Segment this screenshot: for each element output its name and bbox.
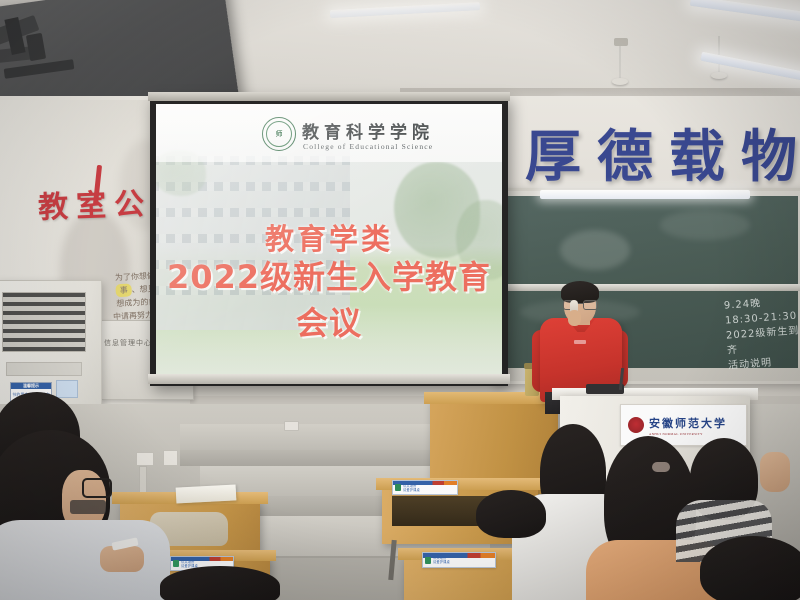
notebook: [176, 484, 237, 503]
university-name-en: ANHUI NORMAL UNIVERSITY: [649, 432, 727, 436]
projection-screen-weight-bar: [148, 374, 510, 384]
projection-screen-roller: [148, 92, 510, 101]
student-torso: [0, 520, 170, 600]
chalk-smudge: [660, 210, 750, 240]
speaker-shirt-logo: [574, 340, 586, 344]
light-hanger-disc: [711, 72, 727, 79]
screen-glare: [156, 104, 502, 376]
desk-sticker: 公共场所 请爱护课桌: [392, 480, 458, 495]
sticker-line2: 请爱护课桌: [181, 564, 198, 568]
recycle-icon: [173, 560, 179, 567]
hair-clip: [652, 462, 670, 472]
cable-conduit: [139, 466, 147, 494]
power-outlet: [136, 452, 154, 466]
sticker-line2: 请爱护课桌: [433, 560, 450, 564]
recycle-icon: [395, 484, 401, 491]
speaker-hand: [568, 310, 581, 326]
student-hair: [700, 536, 800, 600]
info-management-label: 信息管理中心: [104, 338, 152, 348]
handwriting-highlight: 事: [115, 283, 132, 297]
wall-motto-text: 厚德载物: [525, 112, 800, 193]
light-hanger-disc: [612, 78, 628, 85]
student-arm: [760, 452, 790, 492]
seal-text: 师: [276, 131, 283, 138]
face-mask: [70, 500, 106, 514]
blackboard-chalk-rail: [496, 284, 800, 291]
desk-sticker: 公共场所 请爱护课桌: [422, 552, 496, 568]
student-hair: [476, 490, 546, 538]
blackboard-chalk-writing: 9.24晚 18:30-21:30 2022级新生到齐 活动说明: [723, 294, 800, 374]
sticker-line2: 请爱护课桌: [403, 488, 420, 492]
university-emblem-icon: [628, 417, 644, 433]
power-outlet: [284, 421, 299, 431]
recycle-icon: [425, 557, 431, 564]
student-hair: [160, 566, 280, 600]
light-hanger-rod: [619, 46, 621, 82]
projection-screen: 师 教育科学学院 College of Educational Science …: [156, 104, 502, 376]
blackboard-lamp: [540, 190, 750, 199]
university-name-cn: 安徽师范大学: [649, 417, 727, 430]
glasses-icon: [563, 300, 597, 308]
student-hand: [100, 546, 144, 572]
glasses-icon: [82, 478, 112, 498]
air-conditioner-grille: [2, 292, 86, 352]
classroom-photo: 厚德载物 教室公约 为了你想做的 事、想见的 想成为的自己 中请再努力一下 信息…: [0, 0, 800, 600]
ceiling-mount: [614, 38, 628, 46]
power-outlet: [163, 450, 178, 466]
air-conditioner-panel: [6, 362, 82, 376]
air-conditioner-tag: [56, 380, 78, 398]
chalk-smudge: [560, 230, 630, 270]
